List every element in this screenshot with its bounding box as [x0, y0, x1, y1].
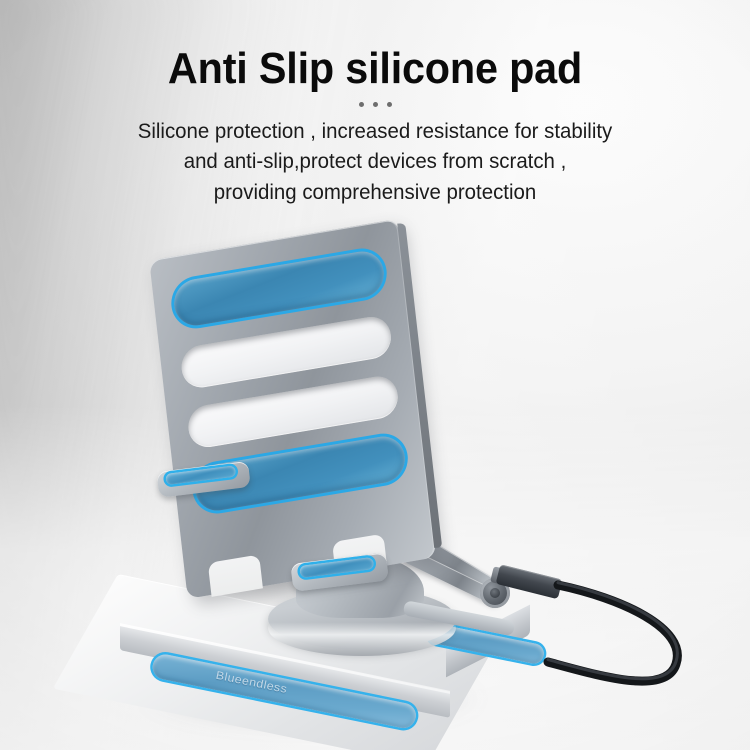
silicone-pad-top — [172, 248, 386, 329]
hinge-pivot-screw — [490, 588, 500, 598]
support-panel-face — [149, 219, 436, 599]
support-panel[interactable] — [149, 219, 436, 599]
product-image: Blueendless — [0, 0, 750, 750]
product-marketing-image: Anti Slip silicone pad Silicone protecti… — [0, 0, 750, 750]
